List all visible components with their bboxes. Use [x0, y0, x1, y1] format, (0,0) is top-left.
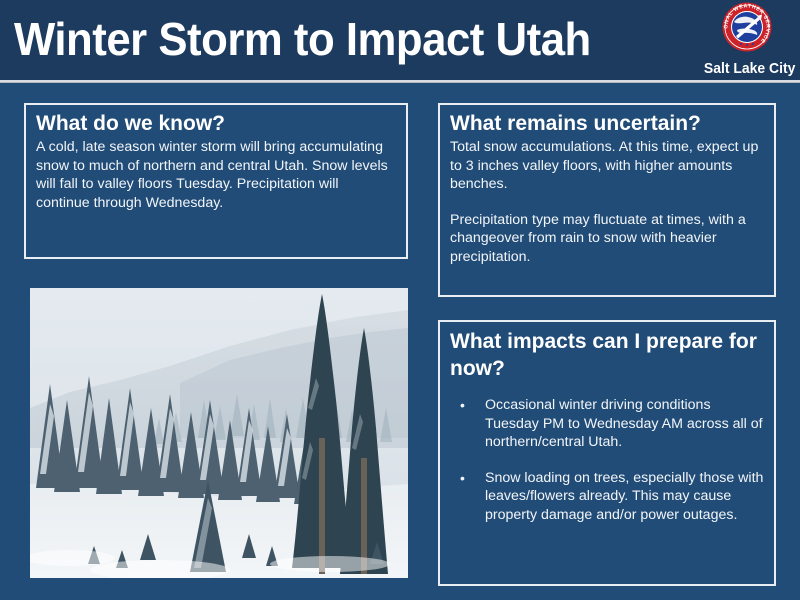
panel-what-remains-uncertain: What remains uncertain? Total snow accum… — [438, 103, 776, 297]
panel-uncertain-paragraph-1: Total snow accumulations. At this time, … — [450, 138, 764, 194]
list-item: • Snow loading on trees, especially thos… — [450, 469, 764, 525]
panel-know-body: A cold, late season winter storm will br… — [36, 138, 396, 212]
panel-know-text: A cold, late season winter storm will br… — [36, 138, 396, 212]
list-item: • Occasional winter driving conditions T… — [450, 396, 764, 452]
bullet-marker-icon: • — [460, 469, 465, 488]
page-title: Winter Storm to Impact Utah — [14, 10, 591, 68]
nws-seal-icon: NATIONAL WEATHER SERVICE — [722, 2, 772, 52]
weather-briefing-slide: Winter Storm to Impact Utah Salt Lake Ci… — [0, 0, 800, 600]
snowy-evergreen-forest-photo — [30, 288, 408, 578]
panel-impacts-heading: What impacts can I prepare for now? — [450, 328, 764, 382]
list-item-label: Snow loading on trees, especially those … — [485, 470, 763, 523]
panel-what-impacts: What impacts can I prepare for now? • Oc… — [438, 320, 776, 586]
office-label: Salt Lake City — [704, 60, 795, 77]
panel-uncertain-paragraph-2: Precipitation type may fluctuate at time… — [450, 211, 764, 267]
panel-uncertain-body: Total snow accumulations. At this time, … — [450, 138, 764, 266]
panel-know-heading: What do we know? — [36, 111, 396, 136]
impacts-bullet-list: • Occasional winter driving conditions T… — [450, 396, 764, 524]
panel-uncertain-heading: What remains uncertain? — [450, 111, 764, 136]
bullet-marker-icon: • — [460, 396, 465, 415]
list-item-label: Occasional winter driving conditions Tue… — [485, 397, 763, 450]
header-divider — [0, 80, 800, 83]
panel-what-we-know: What do we know? A cold, late season win… — [24, 103, 408, 259]
